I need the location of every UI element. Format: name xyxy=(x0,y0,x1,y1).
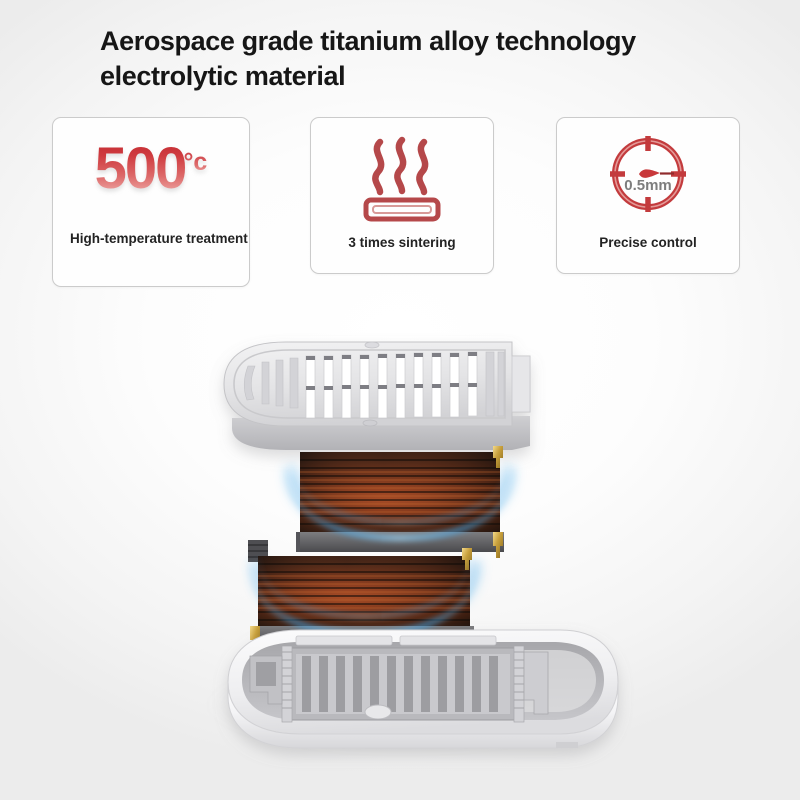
temperature-value: 500 xyxy=(95,136,186,201)
upper-heating-plate xyxy=(286,446,514,558)
top-grille-cover xyxy=(224,342,530,450)
feature-card-precise-control: 0.5mm Precise control xyxy=(556,117,740,274)
temperature-500c-icon: 500°c xyxy=(53,118,249,228)
temperature-unit: °c xyxy=(183,148,207,176)
heat-waves-plate-icon xyxy=(311,118,493,226)
feature-card-list: 500°c High-temperature treatment 3 times… xyxy=(0,117,800,292)
crosshair-target-icon: 0.5mm xyxy=(557,118,739,226)
headline-line-2: electrolytic material xyxy=(100,59,740,94)
feature-card-sintering: 3 times sintering xyxy=(310,117,494,274)
feature-card-label: 3 times sintering xyxy=(311,234,493,252)
feature-card-high-temperature: 500°c High-temperature treatment xyxy=(52,117,250,287)
headline-line-1: Aerospace grade titanium alloy technolog… xyxy=(100,24,740,59)
precision-value: 0.5mm xyxy=(624,177,672,194)
bottom-tray-housing xyxy=(228,630,618,748)
feature-card-label: Precise control xyxy=(557,234,739,252)
feature-card-label: High-temperature treatment xyxy=(53,230,249,248)
exploded-heating-module xyxy=(0,300,800,800)
page-headline: Aerospace grade titanium alloy technolog… xyxy=(100,24,740,93)
